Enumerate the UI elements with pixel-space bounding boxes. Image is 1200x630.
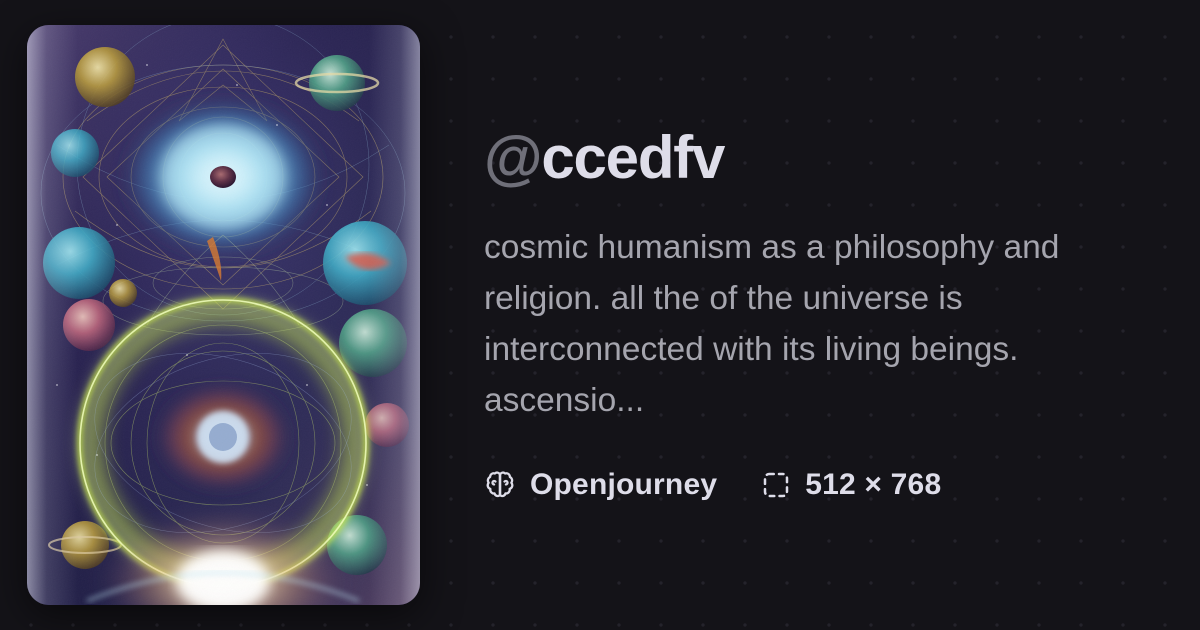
info-panel: @ ccedfv cosmic humanism as a philosophy… xyxy=(484,0,1184,630)
model-name-label: Openjourney xyxy=(530,468,717,502)
username-text: ccedfv xyxy=(541,128,724,188)
artwork-thumbnail[interactable] xyxy=(27,25,420,605)
og-preview-card: @ ccedfv cosmic humanism as a philosophy… xyxy=(0,0,1200,630)
dimensions-label: 512 × 768 xyxy=(805,468,941,502)
username-row[interactable]: @ ccedfv xyxy=(484,128,1184,188)
brain-icon xyxy=(484,469,516,501)
at-symbol: @ xyxy=(484,128,541,188)
meta-item-model[interactable]: Openjourney xyxy=(484,468,717,502)
generated-artwork-image xyxy=(27,25,420,605)
dashed-frame-icon xyxy=(761,470,791,500)
prompt-description: cosmic humanism as a philosophy and reli… xyxy=(484,222,1084,426)
meta-row: Openjourney 512 × 768 xyxy=(484,468,1184,502)
meta-item-dimensions[interactable]: 512 × 768 xyxy=(761,468,941,502)
